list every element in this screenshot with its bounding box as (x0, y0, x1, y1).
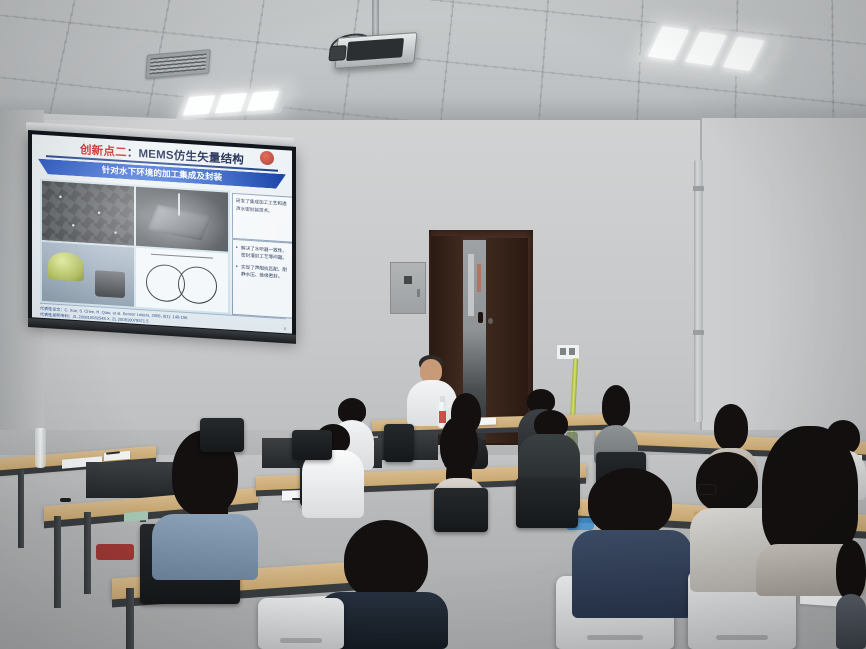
door-handle-icon[interactable] (478, 312, 483, 323)
desk-leg-1 (18, 470, 24, 548)
student-torso (836, 594, 866, 649)
student-torso (302, 450, 364, 518)
classroom-photo: 创新点二：MEMS仿生矢量结构 针对水下环境的加工集成及封装 研发了集成加工工艺… (0, 0, 866, 649)
slide-image-grid (40, 179, 230, 315)
electrical-cabinet (390, 262, 426, 314)
chair-left-dark-2 (292, 430, 332, 460)
wall-conduit (694, 160, 703, 422)
student-hair (836, 540, 866, 600)
chair-back-left-dark (200, 418, 244, 452)
desk-leg-5 (126, 588, 134, 649)
eyeglasses-icon (698, 484, 716, 495)
phone-on-second-desk (60, 498, 71, 502)
student-hair (696, 452, 758, 512)
student-hair (602, 385, 630, 427)
cabinet-vent-icon (404, 276, 412, 284)
ceiling-projector (334, 32, 417, 69)
honeycomb-sem-image (42, 181, 134, 246)
projection-screen: 创新点二：MEMS仿生矢量结构 针对水下环境的加工集成及封装 研发了集成加工工艺… (28, 130, 296, 340)
dome-hydrophone-photo (42, 242, 134, 307)
presenter-chair (384, 424, 414, 462)
student-front-navy-shirt (572, 468, 692, 618)
slide-bullet-box: 解决了水听器一致性、密封灌封工艺等问题。 实现了声阻抗匹配、耐静水压、绝缘密封。 (232, 239, 292, 319)
slide-bullet-2: 实现了声阻抗匹配、耐静水压、绝缘密封。 (236, 263, 290, 281)
slide-bullet-1: 解决了水听器一致性、密封灌封工艺等问题。 (236, 244, 290, 262)
sensor-schematic-diagram (136, 248, 228, 313)
water-bottle-left (35, 428, 46, 468)
slide-title-colon: ： (127, 147, 139, 160)
slide-logo-icon (260, 151, 274, 166)
right-wall (700, 118, 866, 448)
projector-lens-icon (328, 45, 347, 61)
chair-mid-right (516, 478, 578, 528)
desk-leg-3 (54, 516, 61, 608)
student-hair (588, 468, 672, 536)
slide-page-number: 9 (284, 326, 286, 331)
student-bottom-right-edge (836, 540, 866, 649)
door-knob-icon[interactable] (488, 318, 493, 324)
student-hair (714, 404, 748, 450)
cabinet-handle-icon (417, 289, 420, 297)
mems-chip-render (136, 187, 228, 252)
chair-seat-red-left (96, 544, 134, 560)
corridor-light (468, 254, 474, 316)
projected-slide: 创新点二：MEMS仿生矢量结构 针对水下环境的加工集成及封装 研发了集成加工工艺… (32, 134, 292, 333)
student-hair (762, 426, 858, 556)
chair-front-lower-left (258, 598, 344, 649)
desk-leg-4 (84, 512, 91, 594)
slide-note-box: 研发了集成加工工艺和透声水密封装技术。 (232, 193, 292, 243)
corridor-object (477, 264, 481, 292)
student-torso (152, 514, 258, 580)
student-front-left-ponytail (152, 430, 258, 580)
student-torso (572, 530, 692, 618)
projector-vent (346, 38, 404, 61)
student-hair (344, 520, 428, 600)
